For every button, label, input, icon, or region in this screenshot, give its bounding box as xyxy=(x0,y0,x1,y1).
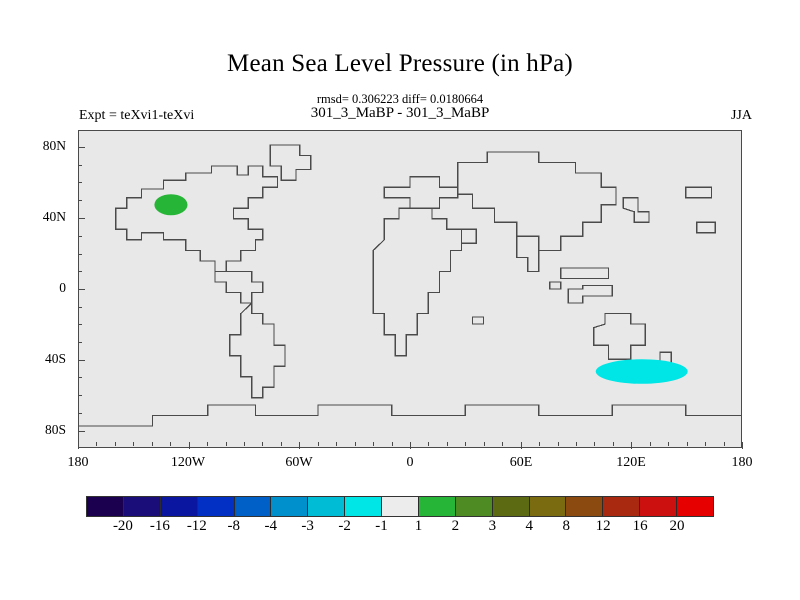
x-axis-tick xyxy=(687,442,688,446)
y-axis-ticks xyxy=(78,130,88,448)
x-axis-tick xyxy=(650,442,651,446)
colorbar-segment xyxy=(124,497,161,516)
colorbar-tick-label: -16 xyxy=(150,518,170,535)
x-axis-tick xyxy=(428,442,429,446)
colorbar-tick-label: -3 xyxy=(301,518,314,535)
southern-ocean-negative-anomaly xyxy=(596,359,688,384)
colorbar-segment xyxy=(308,497,345,516)
x-axis-tick xyxy=(558,442,559,446)
figure-root: Mean Sea Level Pressure (in hPa) rmsd= 0… xyxy=(0,0,800,600)
x-axis-tick xyxy=(78,442,79,449)
x-tick-label: 0 xyxy=(407,455,414,471)
colorbar-segment xyxy=(235,497,272,516)
y-tick-label: 40S xyxy=(45,351,66,367)
x-axis-tick xyxy=(724,442,725,446)
colorbar-tick-label: 20 xyxy=(670,518,685,535)
x-axis-tick xyxy=(484,442,485,446)
x-tick-label: 180 xyxy=(68,455,89,471)
x-axis-tick xyxy=(742,442,743,449)
x-axis-tick xyxy=(244,442,245,446)
x-axis-tick xyxy=(668,442,669,446)
colorbar-segment xyxy=(603,497,640,516)
colorbar-labels: -20-16-12-8-4-3-2-112348121620 xyxy=(86,518,714,540)
colorbar-segment xyxy=(161,497,198,516)
colorbar-tick-label: -12 xyxy=(187,518,207,535)
x-axis-tick xyxy=(521,442,522,449)
colorbar-segment xyxy=(456,497,493,516)
x-axis-tick xyxy=(410,442,411,449)
colorbar-tick-label: -2 xyxy=(338,518,351,535)
colorbar-segment xyxy=(640,497,677,516)
colorbar-tick-label: 16 xyxy=(633,518,648,535)
colorbar-tick-label: 2 xyxy=(452,518,460,535)
colorbar-segment xyxy=(530,497,567,516)
x-tick-label: 60W xyxy=(285,455,312,471)
x-axis-tick xyxy=(133,442,134,446)
colorbar-segment xyxy=(566,497,603,516)
x-axis-tick xyxy=(115,442,116,446)
x-axis-tick xyxy=(318,442,319,446)
x-axis-tick xyxy=(299,442,300,449)
x-axis-tick xyxy=(631,442,632,449)
colorbar-segment xyxy=(271,497,308,516)
x-axis-tick xyxy=(613,442,614,446)
y-tick-label: 80S xyxy=(45,422,66,438)
colorbar-segment xyxy=(87,497,124,516)
colorbar-tick-label: -20 xyxy=(113,518,133,535)
page-title: Mean Sea Level Pressure (in hPa) xyxy=(0,50,800,78)
colorbar xyxy=(86,496,714,517)
x-axis-tick xyxy=(207,442,208,446)
north-pacific-positive-anomaly xyxy=(154,194,187,215)
colorbar-tick-label: -4 xyxy=(264,518,277,535)
colorbar-tick-label: -8 xyxy=(228,518,241,535)
x-tick-label: 180 xyxy=(732,455,753,471)
x-axis-tick xyxy=(262,442,263,446)
x-axis-tick xyxy=(96,442,97,446)
colorbar-segment xyxy=(198,497,235,516)
x-axis-tick xyxy=(152,442,153,446)
colorbar-tick-label: 1 xyxy=(415,518,423,535)
x-axis-tick xyxy=(594,442,595,446)
colorbar-tick-label: -1 xyxy=(375,518,388,535)
x-axis-labels: 180 120W 60W 0 60E 120E 180 xyxy=(78,455,742,477)
map-plot-area xyxy=(78,130,742,448)
x-tick-label: 120E xyxy=(616,455,646,471)
y-axis-labels: 80N 40N 0 40S 80S xyxy=(0,130,72,448)
x-axis-ticks xyxy=(78,442,742,450)
colorbar-segment xyxy=(677,497,713,516)
colorbar-segment xyxy=(493,497,530,516)
colorbar-segment xyxy=(382,497,419,516)
x-axis-tick xyxy=(502,442,503,446)
colorbar-tick-label: 12 xyxy=(596,518,611,535)
x-axis-tick xyxy=(189,442,190,449)
x-axis-tick xyxy=(392,442,393,446)
y-tick-label: 80N xyxy=(43,138,66,154)
x-axis-tick xyxy=(373,442,374,446)
x-axis-tick xyxy=(170,442,171,446)
x-tick-label: 60E xyxy=(510,455,533,471)
x-axis-tick xyxy=(281,442,282,446)
x-axis-tick xyxy=(226,442,227,446)
x-axis-tick xyxy=(336,442,337,446)
colorbar-tick-label: 8 xyxy=(562,518,570,535)
colorbar-segment xyxy=(419,497,456,516)
x-axis-tick xyxy=(705,442,706,446)
colorbar-tick-label: 3 xyxy=(489,518,497,535)
colorbar-segment xyxy=(345,497,382,516)
x-axis-tick xyxy=(539,442,540,446)
experiment-label: Expt = teXvi1-teXvi xyxy=(79,108,194,124)
x-tick-label: 120W xyxy=(171,455,205,471)
colorbar-tick-label: 4 xyxy=(526,518,534,535)
x-axis-tick xyxy=(447,442,448,446)
season-label: JJA xyxy=(731,108,752,124)
y-tick-label: 0 xyxy=(59,280,66,296)
x-axis-tick xyxy=(465,442,466,446)
coastline-map xyxy=(79,131,741,447)
x-axis-tick xyxy=(576,442,577,446)
x-axis-tick xyxy=(355,442,356,446)
y-tick-label: 40N xyxy=(43,209,66,225)
